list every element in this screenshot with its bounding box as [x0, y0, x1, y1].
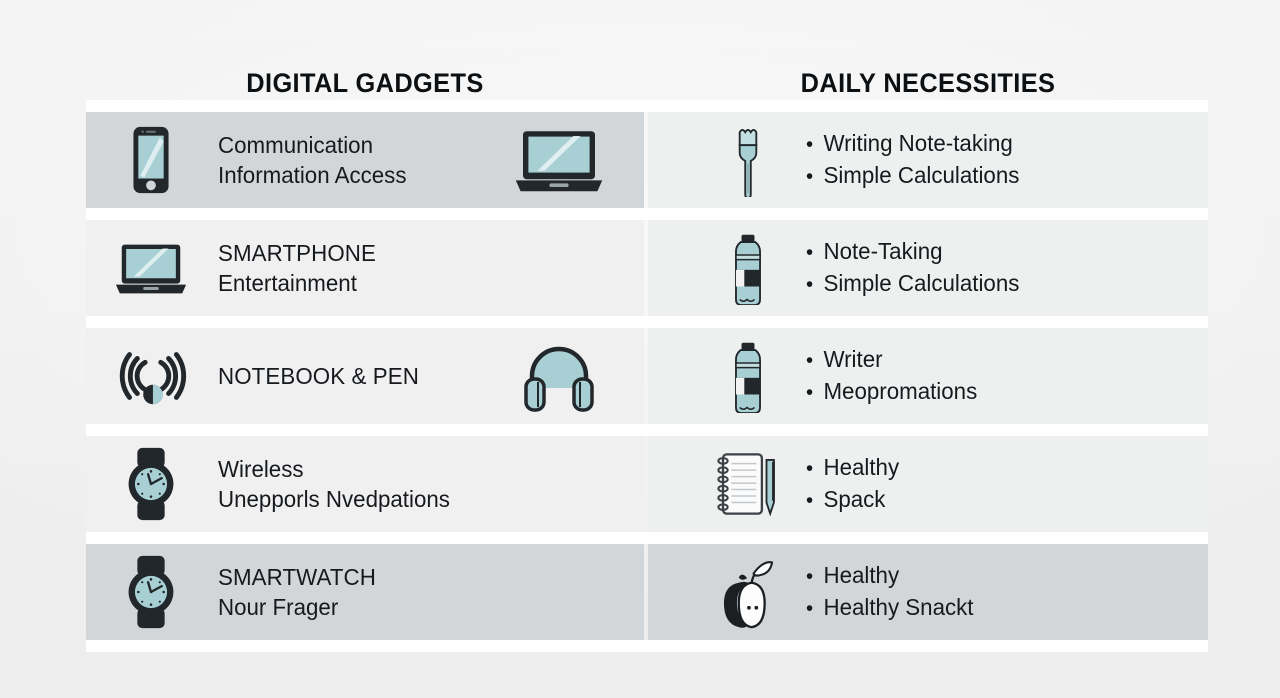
bullet-dot: •: [806, 130, 823, 160]
table-row[interactable]: CommunicationInformation Access: [0, 112, 1280, 208]
list-item: • Simple Calculations: [806, 160, 1019, 192]
row-text-line: Communication: [218, 130, 406, 160]
cell-digital-gadgets[interactable]: WirelessUnepporls Nvedpations: [86, 436, 644, 532]
row-label-group: SMARTPHONEEntertainment: [218, 238, 381, 298]
bullet-dot: •: [806, 346, 823, 376]
list-item-label: Healthy Snackt: [823, 592, 973, 622]
cell-daily-necessities[interactable]: • Healthy • Spack: [648, 436, 1208, 532]
smartwatch-icon: [108, 549, 194, 635]
list-item-label: Spack: [823, 484, 885, 514]
list-item-label: Writer: [823, 344, 882, 374]
list-item-label: Meopromations: [823, 376, 977, 406]
column-header-digital-gadgets: DIGITAL GADGETS: [103, 62, 628, 104]
row-text-line: SMARTWATCH: [218, 562, 376, 592]
list-item-label: Healthy: [823, 560, 899, 590]
cell-digital-gadgets[interactable]: SMARTPHONEEntertainment: [86, 220, 644, 316]
list-item: • Note-Taking: [806, 236, 1019, 268]
list-item: • Healthy Snackt: [806, 592, 974, 624]
row-bullet-group: • Note-Taking • Simple Calculations: [806, 236, 1026, 300]
table-top-separator: [86, 100, 1208, 112]
list-item-label: Healthy: [823, 452, 899, 482]
cell-daily-necessities[interactable]: • Note-Taking • Simple Calculations: [648, 220, 1208, 316]
list-item-label: Writing Note-taking: [823, 128, 1012, 158]
smartwatch-icon: [108, 441, 194, 527]
bullet-dot: •: [806, 270, 823, 300]
row-text-line: Unepporls Nvedpations: [218, 484, 450, 514]
bullet-dot: •: [806, 594, 823, 624]
cell-digital-gadgets[interactable]: CommunicationInformation Access: [86, 112, 644, 208]
column-headers: DIGITAL GADGETS DAILY NECESSITIES: [0, 62, 1280, 104]
row-text-line: Information Access: [218, 160, 406, 190]
toothbrush-icon: [710, 117, 786, 203]
table-row[interactable]: WirelessUnepporls Nvedpations: [0, 436, 1280, 532]
row-bullet-group: • Writer • Meopromations: [806, 344, 983, 408]
list-item-label: Note-Taking: [823, 236, 942, 266]
row-label-group: NOTEBOOK & PEN: [218, 361, 425, 391]
cell-digital-gadgets[interactable]: NOTEBOOK & PEN: [86, 328, 644, 424]
bullet-dot: •: [806, 378, 823, 408]
notebook-pen-icon: [710, 441, 786, 527]
row-text-line: Nour Frager: [218, 592, 376, 622]
table-row[interactable]: SMARTPHONEEntertainment • Note-Taking • …: [0, 220, 1280, 316]
list-item-label: Simple Calculations: [823, 268, 1019, 298]
list-item: • Writing Note-taking: [806, 128, 1019, 160]
cell-daily-necessities[interactable]: • Writing Note-taking • Simple Calculati…: [648, 112, 1208, 208]
bullet-dot: •: [806, 162, 823, 192]
column-header-daily-necessities: DAILY NECESSITIES: [665, 62, 1191, 104]
list-item: • Healthy: [806, 452, 899, 484]
list-item: • Writer: [806, 344, 977, 376]
row-separator: [86, 640, 1208, 652]
row-separator: [86, 532, 1208, 544]
cell-daily-necessities[interactable]: • Writer • Meopromations: [648, 328, 1208, 424]
list-item: • Simple Calculations: [806, 268, 1019, 300]
comparison-infographic: DIGITAL GADGETS DAILY NECESSITIES Commun…: [0, 0, 1280, 698]
list-item: • Spack: [806, 484, 899, 516]
laptop-icon: [108, 225, 194, 311]
row-label-group: SMARTWATCHNour Frager: [218, 562, 381, 622]
row-text-line: SMARTPHONE: [218, 238, 376, 268]
headphones-icon: [504, 333, 614, 419]
row-label-group: WirelessUnepporls Nvedpations: [218, 454, 457, 514]
row-bullet-group: • Healthy • Spack: [806, 452, 902, 516]
row-text-line: NOTEBOOK & PEN: [218, 361, 419, 391]
row-separator: [86, 208, 1208, 220]
laptop-icon: [504, 117, 614, 203]
row-label-group: CommunicationInformation Access: [218, 130, 412, 190]
table-row[interactable]: SMARTWATCHNour Frager • Healthy • Health…: [0, 544, 1280, 640]
list-item: • Healthy: [806, 560, 974, 592]
water-bottle-icon: [710, 333, 786, 419]
wireless-signal-icon: [108, 333, 194, 419]
bullet-dot: •: [806, 238, 823, 268]
row-separator: [86, 424, 1208, 436]
list-item-label: Simple Calculations: [823, 160, 1019, 190]
row-bullet-group: • Writing Note-taking • Simple Calculati…: [806, 128, 1026, 192]
smartphone-icon: [108, 117, 194, 203]
water-bottle-icon: [710, 225, 786, 311]
bullet-dot: •: [806, 562, 823, 592]
row-bullet-group: • Healthy • Healthy Snackt: [806, 560, 979, 624]
bullet-dot: •: [806, 486, 823, 516]
cell-daily-necessities[interactable]: • Healthy • Healthy Snackt: [648, 544, 1208, 640]
row-text-line: Wireless: [218, 454, 450, 484]
list-item: • Meopromations: [806, 376, 977, 408]
row-separator: [86, 316, 1208, 328]
row-text-line: Entertainment: [218, 268, 376, 298]
apple-icon: [710, 549, 786, 635]
bullet-dot: •: [806, 454, 823, 484]
cell-digital-gadgets[interactable]: SMARTWATCHNour Frager: [86, 544, 644, 640]
table-row[interactable]: NOTEBOOK & PEN: [0, 328, 1280, 424]
